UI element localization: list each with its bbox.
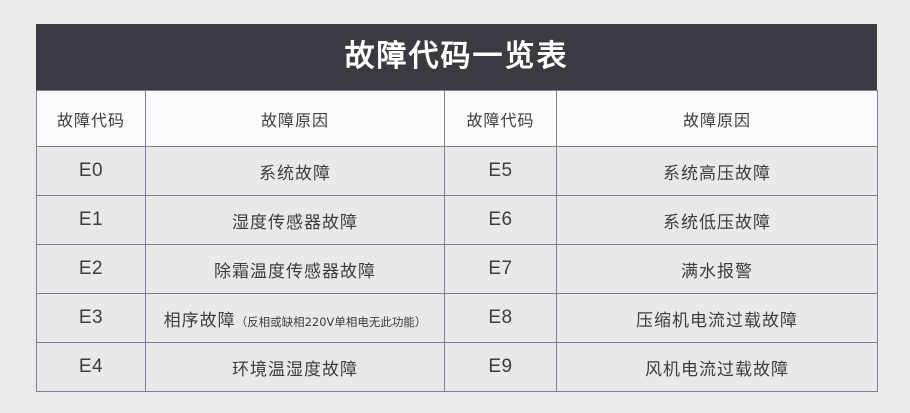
table-row: E2 除霜温度传感器故障 E7 满水报警 bbox=[37, 245, 878, 294]
title-band: 故障代码一览表 bbox=[36, 24, 877, 90]
cell-reason-left: 环境温湿度故障 bbox=[146, 343, 445, 392]
table-row: E3 相序故障（反相或缺相220V单相电无此功能） E8 压缩机电流过载故障 bbox=[37, 294, 878, 343]
reason-text: 湿度传感器故障 bbox=[232, 213, 358, 233]
cell-code-right: E8 bbox=[445, 294, 557, 343]
table-body: E0 系统故障 E5 系统高压故障 E1 湿度传感器故障 E6 系统低压故障 E… bbox=[37, 147, 878, 392]
reason-text: 环境温湿度故障 bbox=[232, 360, 358, 380]
fault-code-sheet: 故障代码一览表 故障代码 故障原因 故障代码 故障原因 E0 系统故障 E5 系… bbox=[36, 24, 877, 386]
cell-reason-right: 满水报警 bbox=[557, 245, 878, 294]
header-fault-code-right: 故障代码 bbox=[445, 91, 557, 147]
page-title: 故障代码一览表 bbox=[345, 42, 569, 72]
cell-code-left: E2 bbox=[37, 245, 146, 294]
cell-code-right: E9 bbox=[445, 343, 557, 392]
cell-reason-right: 风机电流过载故障 bbox=[557, 343, 878, 392]
cell-reason-left: 系统故障 bbox=[146, 147, 445, 196]
cell-reason-left: 相序故障（反相或缺相220V单相电无此功能） bbox=[146, 294, 445, 343]
reason-text: 除霜温度传感器故障 bbox=[214, 262, 376, 282]
cell-reason-right: 系统高压故障 bbox=[557, 147, 878, 196]
fault-code-table: 故障代码 故障原因 故障代码 故障原因 E0 系统故障 E5 系统高压故障 E1… bbox=[36, 90, 878, 392]
cell-code-left: E3 bbox=[37, 294, 146, 343]
header-fault-code-left: 故障代码 bbox=[37, 91, 146, 147]
table-header: 故障代码 故障原因 故障代码 故障原因 bbox=[37, 91, 878, 147]
header-fault-reason-left: 故障原因 bbox=[146, 91, 445, 147]
reason-note: （反相或缺相220V单相电无此功能） bbox=[236, 315, 427, 329]
reason-text: 系统故障 bbox=[259, 164, 331, 184]
cell-reason-left: 除霜温度传感器故障 bbox=[146, 245, 445, 294]
cell-code-left: E4 bbox=[37, 343, 146, 392]
header-fault-reason-right: 故障原因 bbox=[557, 91, 878, 147]
table-row: E1 湿度传感器故障 E6 系统低压故障 bbox=[37, 196, 878, 245]
reason-text: 相序故障 bbox=[164, 311, 236, 331]
cell-reason-right: 压缩机电流过载故障 bbox=[557, 294, 878, 343]
table-header-row: 故障代码 故障原因 故障代码 故障原因 bbox=[37, 91, 878, 147]
cell-code-left: E0 bbox=[37, 147, 146, 196]
table-row: E4 环境温湿度故障 E9 风机电流过载故障 bbox=[37, 343, 878, 392]
cell-reason-left: 湿度传感器故障 bbox=[146, 196, 445, 245]
cell-code-left: E1 bbox=[37, 196, 146, 245]
table-row: E0 系统故障 E5 系统高压故障 bbox=[37, 147, 878, 196]
cell-code-right: E7 bbox=[445, 245, 557, 294]
cell-code-right: E6 bbox=[445, 196, 557, 245]
cell-code-right: E5 bbox=[445, 147, 557, 196]
cell-reason-right: 系统低压故障 bbox=[557, 196, 878, 245]
